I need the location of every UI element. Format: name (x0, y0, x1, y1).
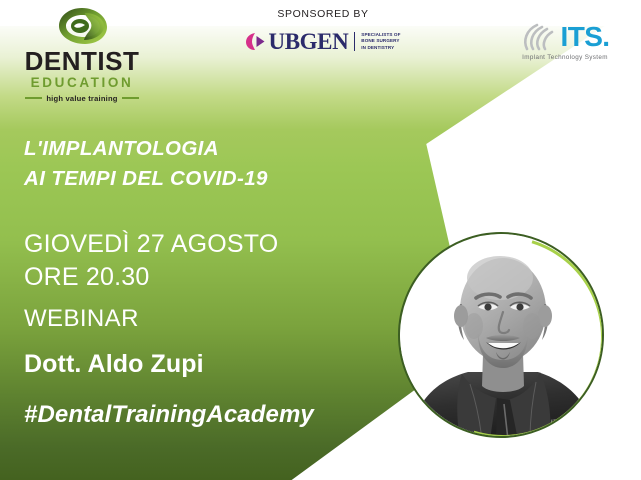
ubgen-logo: UBGEN SPECIALISTS OF BONE SURGERY IN DEN… (228, 30, 418, 53)
brand-tagline-row: high value training (18, 94, 146, 103)
event-hashtag: #DentalTrainingAcademy (24, 401, 314, 429)
ubgen-wordmark: UBGEN (269, 30, 349, 53)
event-title-line-1: L'IMPLANTOLOGIA (24, 134, 384, 164)
speaker-name: Dott. Aldo Zupi (24, 350, 204, 379)
sponsor-block: SPONSORED BY UBGEN SPECIALISTS OF BONE S… (228, 8, 418, 53)
event-time: ORE 20.30 (24, 261, 384, 294)
ubgen-divider (354, 32, 355, 51)
portrait-alt-text: Black and white photo of smiling bearded… (398, 232, 399, 233)
speaker-portrait: ITS (398, 232, 604, 438)
ubgen-leaf-icon (246, 32, 266, 51)
swirl-logo-icon (55, 6, 109, 46)
ubgen-tagline: SPECIALISTS OF BONE SURGERY IN DENTISTRY (361, 32, 400, 52)
sponsored-by-label: SPONSORED BY (228, 8, 418, 20)
event-format-label: WEBINAR (24, 305, 139, 333)
its-waves-icon (521, 22, 559, 52)
partner-logo: ITS. Implant Technology System (505, 22, 625, 61)
tagline-rule-left (25, 97, 42, 99)
ubgen-tagline-line-1: SPECIALISTS OF (361, 32, 400, 37)
event-date-time: GIOVEDÌ 27 AGOSTO ORE 20.30 (24, 228, 384, 294)
ubgen-tagline-line-2: BONE SURGERY (361, 38, 399, 43)
tagline-rule-right (122, 97, 139, 99)
event-title: L'IMPLANTOLOGIA AI TEMPI DEL COVID-19 (24, 134, 384, 193)
event-date: GIOVEDÌ 27 AGOSTO (24, 228, 384, 261)
event-title-line-2: AI TEMPI DEL COVID-19 (24, 164, 384, 194)
ubgen-tagline-line-3: IN DENTISTRY (361, 45, 394, 50)
its-logo-row: ITS. (505, 22, 625, 52)
its-wordmark: ITS. (561, 23, 610, 51)
webinar-poster: DENTIST EDUCATION high value training SP… (0, 0, 641, 480)
its-tagline: Implant Technology System (505, 54, 625, 61)
brand-tagline: high value training (46, 94, 117, 103)
brand-name-secondary: EDUCATION (18, 75, 146, 92)
brand-logo: DENTIST EDUCATION high value training (18, 6, 146, 98)
brand-name-primary: DENTIST (18, 48, 146, 74)
portrait-ring: ITS (398, 232, 604, 438)
